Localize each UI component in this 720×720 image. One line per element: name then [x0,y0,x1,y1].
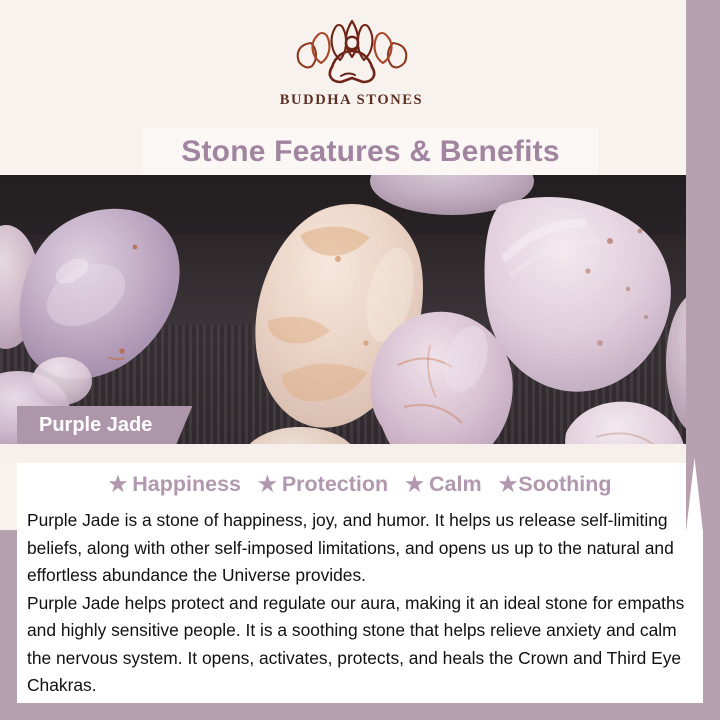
benefit-label: Happiness [132,472,241,497]
stone-name-badge: Purple Jade [17,406,192,444]
star-icon: ★ [108,474,127,495]
benefit-label: Soothing [518,472,611,497]
lotus-meditation-icon [277,18,427,88]
benefit-soothing: ★ Soothing [499,472,612,497]
benefit-label: Protection [282,472,388,497]
benefit-protection: ★ Protection [258,472,388,497]
benefit-happiness: ★ Happiness [108,472,241,497]
card-page: BUDDHA STONES Stone Features & Benefits [0,0,703,703]
description-text: Purple Jade is a stone of happiness, joy… [17,503,703,700]
stone-photo-illustration [0,175,703,444]
star-icon: ★ [499,474,518,495]
stone-feature-card: BUDDHA STONES Stone Features & Benefits [0,0,720,720]
star-icon: ★ [405,474,424,495]
description-paragraph-2: Purple Jade helps protect and regulate o… [27,590,693,700]
brand-header: BUDDHA STONES [0,0,703,128]
left-accent-bar [0,530,17,720]
photo-bottom-gap [0,444,703,463]
benefits-row: ★ Happiness ★ Protection ★ Calm ★ Soothi… [17,465,703,503]
description-paragraph-1: Purple Jade is a stone of happiness, joy… [27,507,693,590]
hero-photo [0,175,703,444]
title-banner: Stone Features & Benefits [143,128,598,175]
right-accent-flag [686,0,703,532]
description-panel: ★ Happiness ★ Protection ★ Calm ★ Soothi… [17,463,703,703]
brand-name: BUDDHA STONES [280,92,423,109]
page-title: Stone Features & Benefits [181,135,559,169]
benefit-label: Calm [429,472,482,497]
star-icon: ★ [258,474,277,495]
benefit-calm: ★ Calm [405,472,481,497]
